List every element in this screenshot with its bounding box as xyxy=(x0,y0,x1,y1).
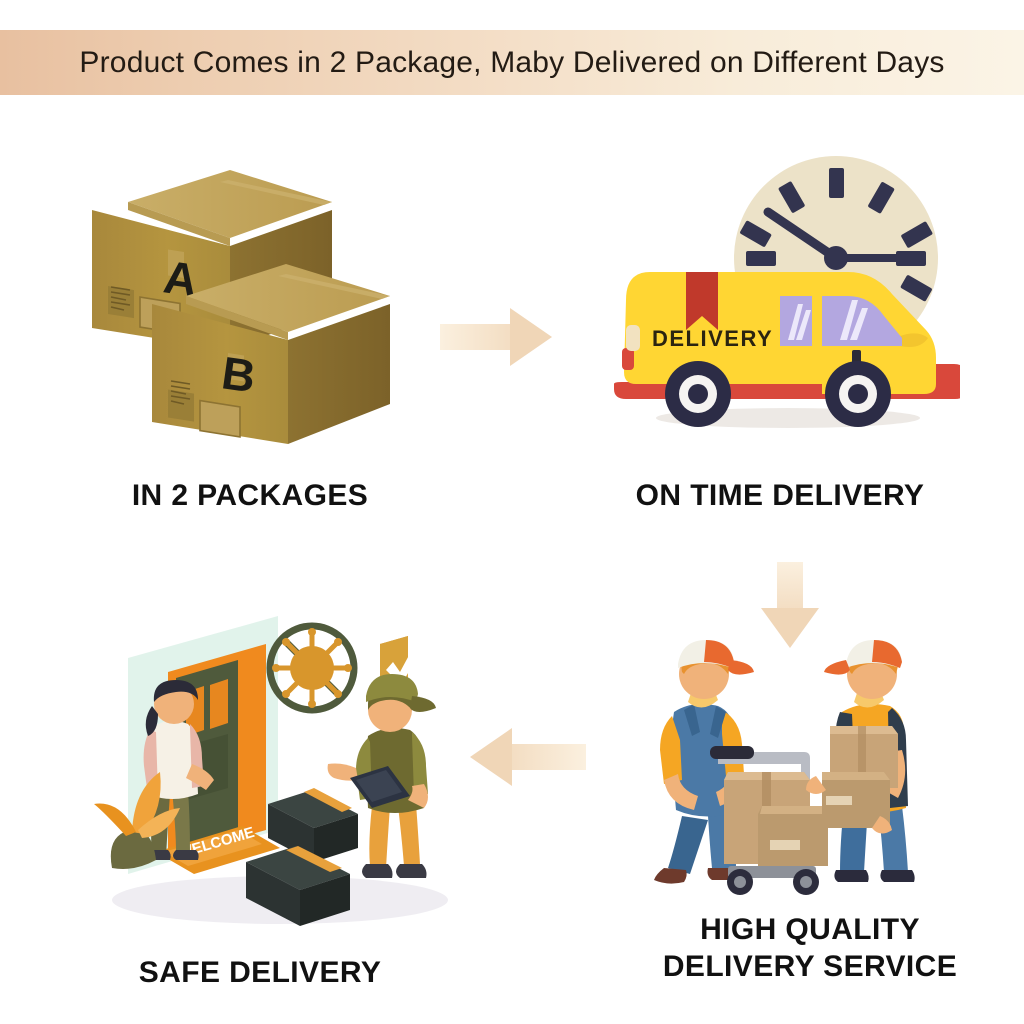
van-wheel-front xyxy=(825,361,891,427)
arrow-shaft xyxy=(777,562,803,610)
worker-with-hand-truck xyxy=(654,640,828,895)
arrow-shaft xyxy=(440,324,512,350)
arrow-head xyxy=(510,308,552,366)
arrow-workers-to-door-icon xyxy=(470,728,590,786)
caption-line-1: HIGH QUALITY xyxy=(610,912,1010,949)
two-delivery-workers-icon xyxy=(630,620,940,910)
carried-boxes xyxy=(822,726,898,828)
caption-safe-delivery: SAFE DELIVERY xyxy=(60,955,460,992)
step-high-quality-service-illustration xyxy=(630,620,940,910)
caption-on-time-delivery: ON TIME DELIVERY xyxy=(580,478,980,515)
no-virus-icon xyxy=(270,626,354,710)
banner-title: Product Comes in 2 Package, Maby Deliver… xyxy=(79,46,944,80)
two-cardboard-boxes-icon: A xyxy=(70,160,430,450)
clock-center-pin xyxy=(824,246,848,270)
arrow-packages-to-truck-icon xyxy=(440,308,554,366)
caption-line-2: DELIVERY SERVICE xyxy=(610,949,1010,986)
step-in-2-packages-illustration: A xyxy=(70,160,430,450)
header-banner: Product Comes in 2 Package, Maby Deliver… xyxy=(0,30,1024,95)
caption-high-quality-delivery-service: HIGH QUALITY DELIVERY SERVICE xyxy=(610,912,1010,985)
infographic-page: Product Comes in 2 Package, Maby Deliver… xyxy=(0,0,1024,1024)
van-wheel-rear xyxy=(665,361,731,427)
step-safe-delivery-illustration: WELCOME xyxy=(80,600,460,930)
step-on-time-delivery-illustration: DELIVERY xyxy=(600,150,960,440)
arrow-head xyxy=(470,728,512,786)
caption-in-2-packages: IN 2 PACKAGES xyxy=(50,478,450,515)
arrow-shaft xyxy=(510,744,586,770)
van-delivery-text: DELIVERY xyxy=(652,326,773,351)
delivery-van-with-clock-icon: DELIVERY xyxy=(600,150,960,440)
contactless-doorstep-delivery-icon: WELCOME xyxy=(80,600,460,930)
hand-truck-box-lower xyxy=(758,806,828,866)
hand-truck-handle xyxy=(710,746,754,759)
